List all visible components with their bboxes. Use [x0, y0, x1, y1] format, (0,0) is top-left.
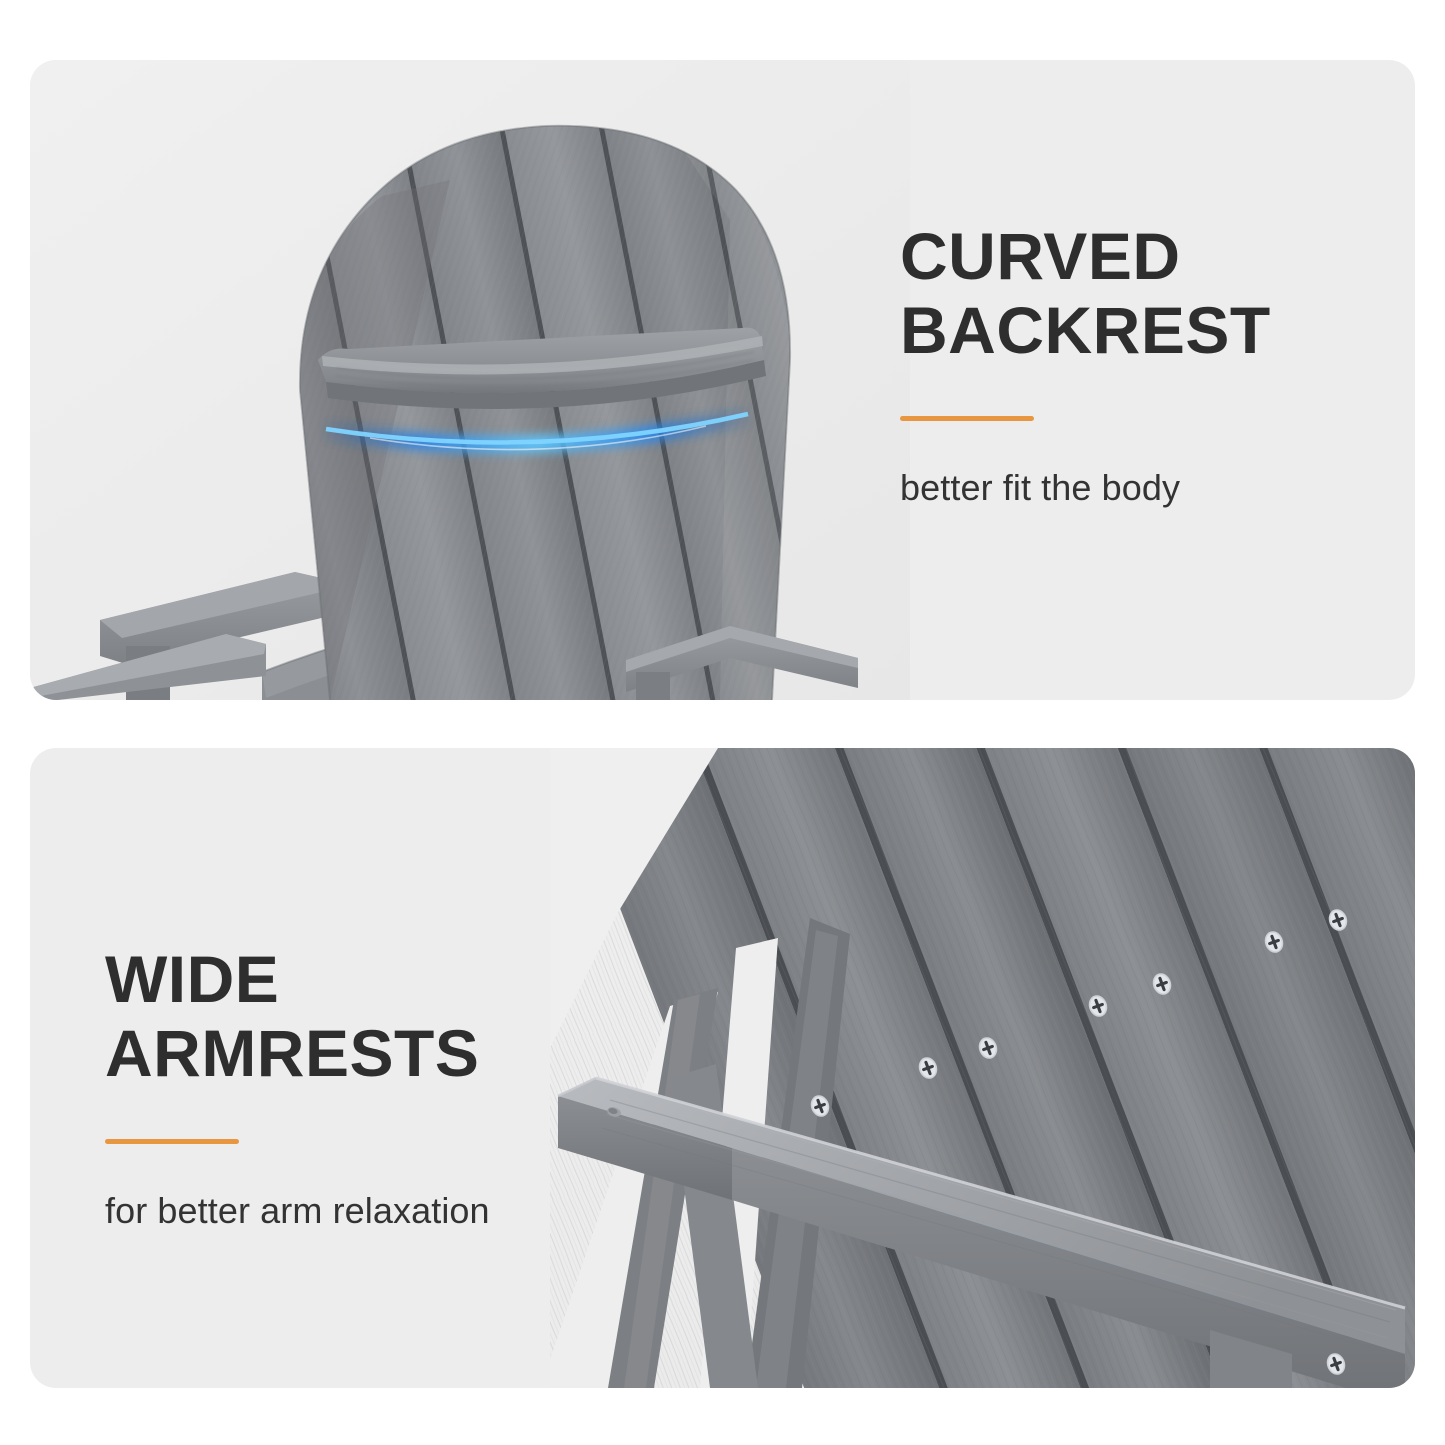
feature-title: CURVED BACKREST [900, 220, 1370, 368]
feature-panel-wide-armrests: WIDE ARMRESTS for better arm relaxation [30, 748, 1415, 1388]
feature-panel-curved-backrest: CURVED BACKREST better fit the body [30, 60, 1415, 700]
feature-subtitle: better fit the body [900, 465, 1370, 512]
infographic-canvas: CURVED BACKREST better fit the body WIDE… [0, 0, 1445, 1445]
accent-divider [105, 1139, 239, 1144]
accent-divider [900, 416, 1034, 421]
product-photo-curved-backrest [30, 60, 910, 700]
feature-text-curved-backrest: CURVED BACKREST better fit the body [900, 220, 1370, 512]
product-photo-wide-armrests [550, 748, 1415, 1388]
